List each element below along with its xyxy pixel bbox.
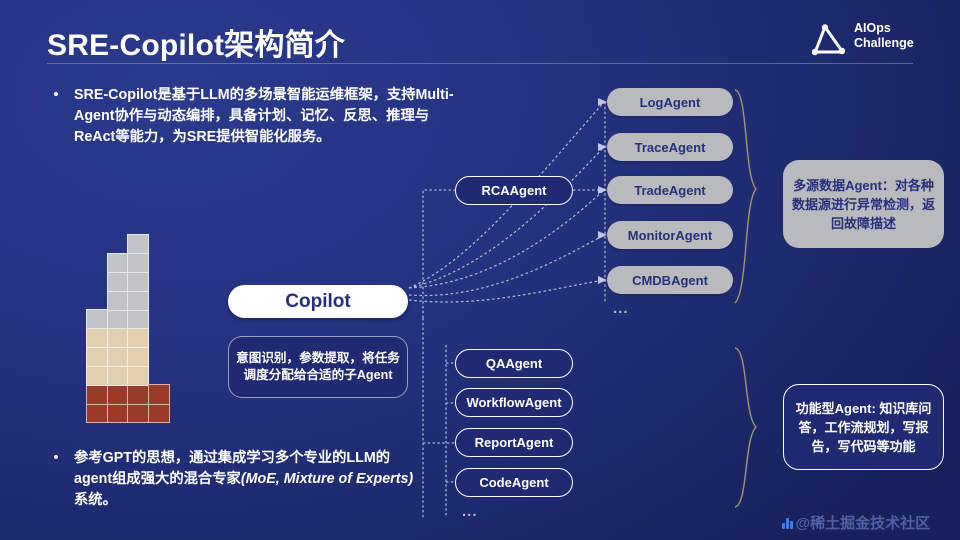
arrow-cmdbagent	[598, 276, 607, 284]
wire-to-monitoragent	[409, 235, 604, 296]
agent-node-codeagent[interactable]: CodeAgent	[455, 468, 573, 497]
arrow-monitoragent	[598, 231, 607, 239]
copilot-node[interactable]: Copilot	[228, 285, 408, 318]
data-agents-more: ...	[613, 300, 629, 317]
arrow-traceagent	[598, 143, 607, 151]
agent-node-monitoragent[interactable]: MonitorAgent	[607, 221, 733, 249]
agent-node-traceagent[interactable]: TraceAgent	[607, 133, 733, 161]
function-agents-more: ...	[462, 503, 478, 520]
slide-canvas: SRE-Copilot架构简介 AIOps Challenge • SRE-Co…	[0, 0, 960, 540]
function-agents-description: 功能型Agent: 知识库问答，工作流规划，写报告，写代码等功能	[783, 384, 944, 470]
juejin-logo-icon	[782, 516, 793, 529]
watermark: @稀土掘金技术社区	[782, 512, 930, 533]
brace-data-agents	[735, 90, 756, 303]
wire-copilot-to-rcaagent	[423, 190, 455, 318]
agent-node-tradeagent[interactable]: TradeAgent	[607, 176, 733, 204]
data-agents-description: 多源数据Agent：对各种数据源进行异常检测，返回故障描述	[783, 160, 944, 248]
brace-function-agents	[735, 348, 756, 507]
agent-node-rcaagent[interactable]: RCAAgent	[455, 176, 573, 205]
arrow-logagent	[598, 98, 607, 106]
wire-to-cmdbagent	[409, 280, 604, 302]
agent-node-reportagent[interactable]: ReportAgent	[455, 428, 573, 457]
watermark-text: @稀土掘金技术社区	[796, 512, 931, 533]
agent-node-cmdbagent[interactable]: CMDBAgent	[607, 266, 733, 294]
agent-node-qaagent[interactable]: QAAgent	[455, 349, 573, 378]
agent-node-workflowagent[interactable]: WorkflowAgent	[455, 388, 573, 417]
copilot-note: 意图识别，参数提取，将任务调度分配给合适的子Agent	[228, 336, 408, 398]
agent-node-logagent[interactable]: LogAgent	[607, 88, 733, 116]
wire-to-traceagent	[409, 147, 604, 288]
